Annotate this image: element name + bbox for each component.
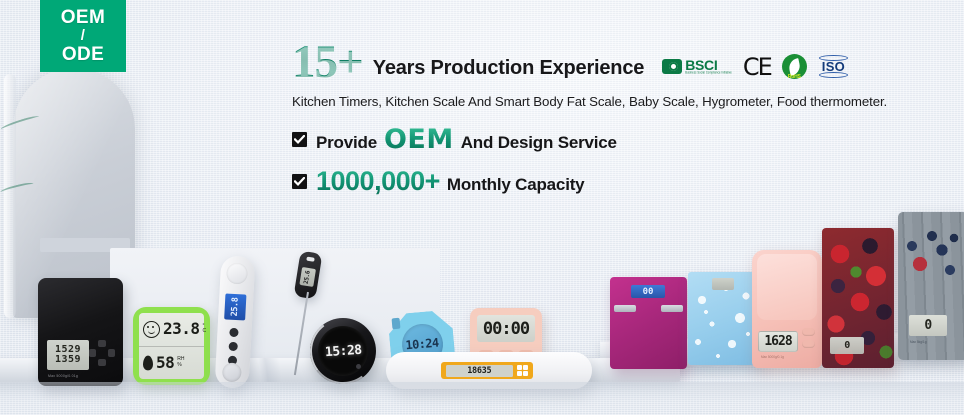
oem-ode-badge: OEM / ODE <box>40 0 126 72</box>
headline-text: Years Production Experience <box>373 57 644 85</box>
white-folding-thermometer: 25.8 <box>215 255 256 389</box>
pink-kitchen-scale: 1628 Max 5000g/0.1g <box>752 250 822 368</box>
electrode-left <box>614 305 636 312</box>
capacity-label: Monthly Capacity <box>447 175 585 195</box>
certification-logos: BSCI Business Social Compliance Initiati… <box>662 54 849 85</box>
baby-scale-panel: 18635 <box>441 362 533 379</box>
pink-timer-display: 00:00 <box>477 315 535 342</box>
checkbox-icon <box>292 132 307 147</box>
capacity-number: 1000,000+ <box>316 166 440 197</box>
badge-slash: / <box>81 28 86 43</box>
iso-logo: ISO <box>818 58 849 75</box>
wood-scale-value: 0 <box>924 318 931 333</box>
wood-scale-caption: Max 5kg/1g <box>910 340 926 344</box>
magenta-body-fat-scale: 00 <box>610 277 687 369</box>
leaf-icon <box>787 58 801 76</box>
humidity-unit: % <box>177 363 184 369</box>
feature-oem-prefix: Provide <box>316 133 377 153</box>
ce-logo: CE <box>743 55 771 79</box>
iso-label: ISO <box>818 58 849 75</box>
years-number: 15+ <box>292 40 363 85</box>
probe-hang-hole <box>306 257 315 262</box>
bsci-logo: BSCI Business Social Compliance Initiati… <box>662 58 732 75</box>
black-scale-value-bottom: 1359 <box>55 355 81 365</box>
temp-unit: C <box>203 329 207 335</box>
blue-dotted-body-scale <box>688 272 760 365</box>
feature-row-oem: Provide OEM And Design Service <box>292 124 952 155</box>
pink-timer-value: 00:00 <box>483 319 529 339</box>
pink-scale-platform <box>757 254 817 320</box>
product-subtitle: Kitchen Timers, Kitchen Scale And Smart … <box>292 94 952 109</box>
floor-reflection <box>0 382 964 415</box>
hygrometer-humidity: 58 <box>156 355 174 371</box>
black-kitchen-scale: 1529 1359 Max 5000g/0.01g <box>38 278 123 386</box>
rohs-label: RoHS <box>782 74 807 80</box>
pink-scale-caption: Max 5000g/0.1g <box>761 355 784 359</box>
body-fat-scale-display: 00 <box>631 285 665 298</box>
water-drop-icon <box>143 355 153 370</box>
green-hygrometer: 23.8 ° C 58 RH % <box>133 307 210 385</box>
black-scale-buttons <box>89 340 115 366</box>
headline-row: 15+ Years Production Experience BSCI Bus… <box>292 40 952 85</box>
berry-scale-value: 0 <box>844 340 850 351</box>
hygrometer-display: 23.8 ° C 58 RH % <box>139 313 204 379</box>
bsci-sublabel: Business Social Compliance Initiative <box>685 72 732 75</box>
probe-display: 25.6 <box>299 267 316 287</box>
smiley-face-icon <box>143 321 160 338</box>
baby-scale-display: 18635 <box>446 365 513 377</box>
badge-line-2: ODE <box>62 45 104 64</box>
baby-scale-buttons <box>517 365 529 377</box>
badge-line-1: OEM <box>61 8 105 27</box>
electrode-right <box>661 305 683 312</box>
feature-oem-highlight: OEM <box>384 124 454 155</box>
pink-scale-display: 1628 <box>758 331 798 352</box>
body-fat-scale-value: 00 <box>643 287 654 297</box>
wood-scale-display: 0 <box>909 315 947 336</box>
thermometer-hinge <box>226 263 248 285</box>
rohs-logo: RoHS <box>782 54 807 79</box>
black-scale-caption: Max 5000g/0.01g <box>48 374 78 378</box>
black-scale-display: 1529 1359 <box>47 340 89 370</box>
copy-block: 15+ Years Production Experience BSCI Bus… <box>292 40 952 197</box>
berry-pattern-kitchen-scale: 0 <box>822 228 894 368</box>
thermometer-base <box>222 362 242 382</box>
probe-value: 25.6 <box>303 270 312 284</box>
promo-banner: OEM / ODE 15+ Years Production Experienc… <box>0 0 964 415</box>
pink-scale-value: 1628 <box>764 334 791 349</box>
arch-edge <box>4 74 16 318</box>
feature-row-capacity: 1000,000+ Monthly Capacity <box>292 166 952 197</box>
octagon-timer-tab <box>392 318 401 330</box>
pink-scale-buttons <box>802 328 815 352</box>
white-thermometer-value: 25.8 <box>230 297 241 316</box>
dotted-scale-display <box>712 278 734 290</box>
baby-scale-value: 18635 <box>467 366 491 376</box>
checkbox-icon <box>292 174 307 189</box>
berry-scale-display: 0 <box>830 337 864 354</box>
hygrometer-temperature: 23.8 <box>163 321 200 337</box>
grey-wood-kitchen-scale: 0 Max 5kg/1g <box>898 212 964 360</box>
white-thermometer-display: 25.8 <box>224 293 246 320</box>
bsci-mark-icon <box>662 59 682 74</box>
feature-oem-suffix: And Design Service <box>461 133 617 153</box>
octagon-timer-value: 10:24 <box>405 336 439 353</box>
